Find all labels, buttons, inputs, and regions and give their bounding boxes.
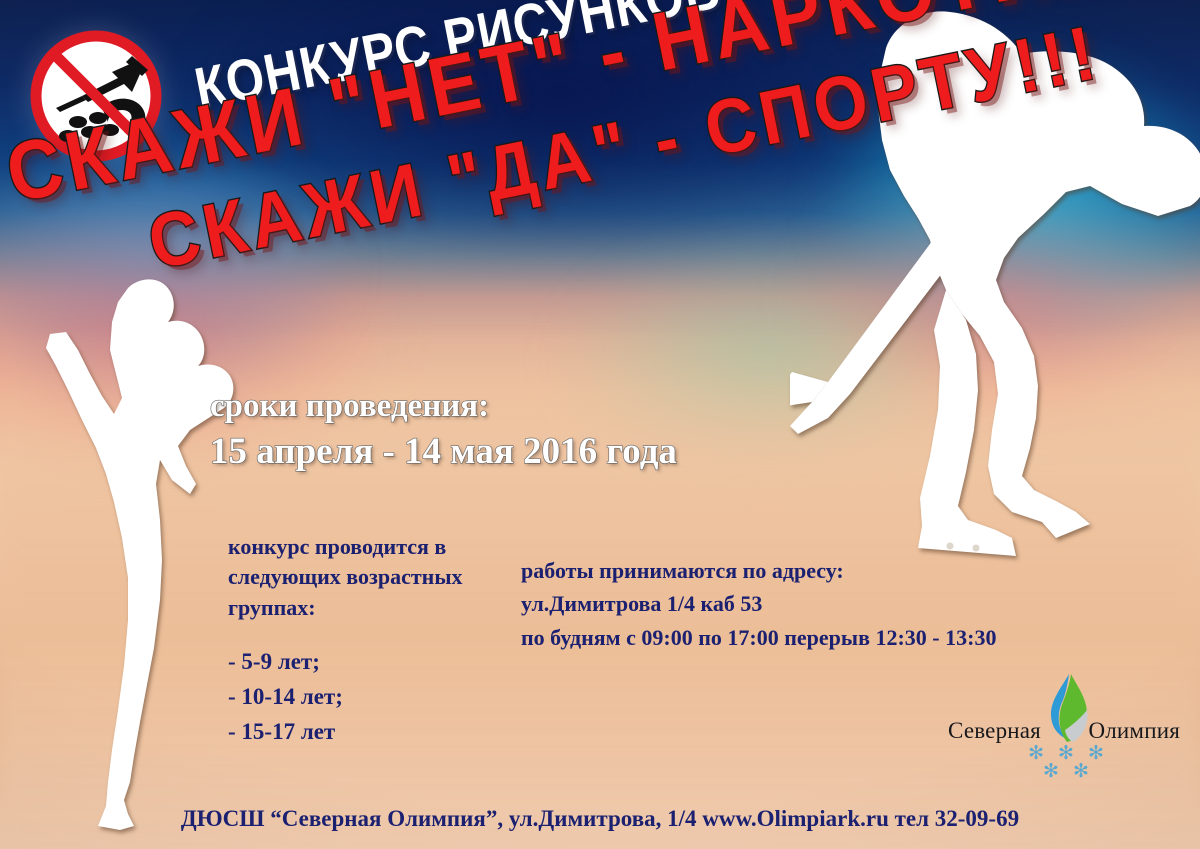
snowflake-icon-group: ✻ ✻ ✻ ✻ ✻ (1018, 744, 1118, 780)
logo-word-right: Олимпия (1088, 718, 1180, 744)
list-item: - 15-17 лет (228, 715, 508, 750)
sponsor-logo: Северная Олимпия ✻ ✻ ✻ ✻ ✻ (948, 672, 1180, 790)
list-item: - 10-14 лет; (228, 680, 508, 715)
dates-label: сроки проведения: (210, 388, 677, 424)
footer-contact-line: ДЮСШ “Северная Олимпия”, ул.Димитрова, 1… (0, 806, 1200, 832)
logo-wordmark: Северная Олимпия (948, 718, 1180, 744)
dates-block: сроки проведения: 15 апреля - 14 мая 201… (210, 388, 677, 473)
submission-hours: по будням с 09:00 по 17:00 перерыв 12:30… (521, 621, 996, 654)
list-item: - 5-9 лет; (228, 645, 508, 680)
submission-address-label: работы принимаются по адресу: (521, 554, 996, 587)
dates-value: 15 апреля - 14 мая 2016 года (210, 432, 677, 473)
snowflake-row-bottom: ✻ ✻ (1018, 762, 1118, 780)
age-groups-block: конкурс проводится в следующих возрастны… (228, 532, 508, 750)
submission-address-value: ул.Димитрова 1/4 каб 53 (521, 587, 996, 620)
age-groups-heading: конкурс проводится в следующих возрастны… (228, 532, 508, 623)
submission-info-block: работы принимаются по адресу: ул.Димитро… (521, 554, 996, 654)
poster-root: КОНКУРС РИСУНКОВ СКАЖИ "НЕТ" - НАРКОТИКА… (0, 0, 1200, 849)
age-groups-list: - 5-9 лет; - 10-14 лет; - 15-17 лет (228, 645, 508, 750)
logo-word-left: Северная (948, 718, 1041, 744)
